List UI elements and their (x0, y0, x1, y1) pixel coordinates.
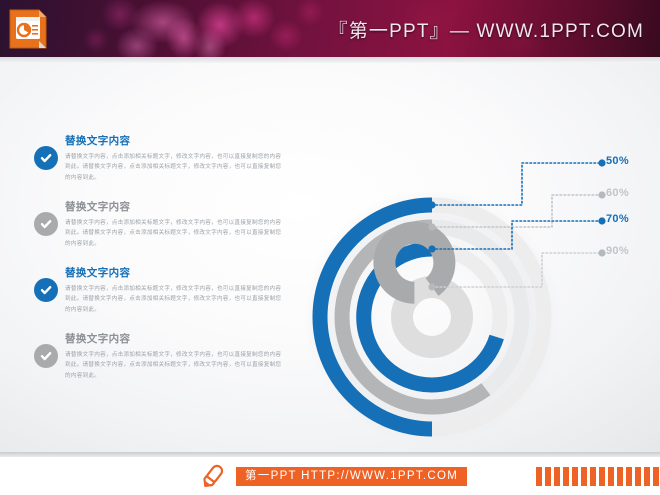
leader-dot-end-4 (598, 249, 605, 256)
list-item-title: 替换文字内容 (65, 265, 282, 280)
leader-dot-start-1 (428, 201, 435, 208)
powerpoint-icon (8, 8, 48, 50)
leader-dot-end-1 (598, 159, 605, 166)
slide-top-highlight (0, 57, 660, 63)
orange-stripe-pattern (536, 467, 660, 486)
check-circle-icon (34, 212, 58, 236)
leader-dot-start-2 (428, 223, 435, 230)
top-banner-title: 『第一PPT』— WWW.1PPT.COM (329, 16, 644, 43)
check-circle-icon (34, 344, 58, 368)
list-item[interactable]: 替换文字内容 请替换文字内容，点击添加相关标题文字，修改文字内容，也可以直接复制… (34, 199, 282, 251)
list-item-body: 请替换文字内容，点击添加相关标题文字，修改文字内容，也可以直接复制您的内容到此。… (65, 350, 282, 381)
leader-dot-start-4 (428, 283, 435, 290)
leader-dot-start-3 (428, 245, 435, 252)
chart-label-50: 50% (606, 155, 629, 167)
list-item-body: 请替换文字内容，点击添加相关标题文字，修改文字内容，也可以直接复制您的内容到此。… (65, 284, 282, 315)
list-item[interactable]: 替换文字内容 请替换文字内容，点击添加相关标题文字，修改文字内容，也可以直接复制… (34, 265, 282, 317)
list-item-title: 替换文字内容 (65, 199, 282, 214)
chart-label-70: 70% (606, 213, 629, 225)
text-block-list: 替换文字内容 请替换文字内容，点击添加相关标题文字，修改文字内容，也可以直接复制… (34, 133, 282, 397)
footer-url-label[interactable]: 第一PPT HTTP://WWW.1PPT.COM (236, 467, 467, 486)
leader-dot-end-2 (598, 191, 605, 198)
list-item-title: 替换文字内容 (65, 331, 282, 346)
chart-label-60: 60% (606, 187, 629, 199)
list-item[interactable]: 替换文字内容 请替换文字内容，点击添加相关标题文字，修改文字内容，也可以直接复制… (34, 331, 282, 383)
slide-canvas: 替换文字内容 请替换文字内容，点击添加相关标题文字，修改文字内容，也可以直接复制… (0, 57, 660, 452)
check-circle-icon (34, 278, 58, 302)
bottom-banner: 第一PPT HTTP://WWW.1PPT.COM (0, 457, 660, 495)
list-item-title: 替换文字内容 (65, 133, 282, 148)
list-item-body: 请替换文字内容，点击添加相关标题文字，修改文字内容，也可以直接复制您的内容到此。… (65, 152, 282, 183)
top-banner: 『第一PPT』— WWW.1PPT.COM (0, 0, 660, 57)
pencil-icon (200, 463, 226, 490)
leader-dot-end-3 (598, 217, 605, 224)
chart-label-90: 90% (606, 245, 629, 257)
check-circle-icon (34, 146, 58, 170)
list-item[interactable]: 替换文字内容 请替换文字内容，点击添加相关标题文字，修改文字内容，也可以直接复制… (34, 133, 282, 185)
radial-progress-chart: 50% 60% 70% 90% (290, 77, 660, 447)
list-item-body: 请替换文字内容，点击添加相关标题文字，修改文字内容，也可以直接复制您的内容到此。… (65, 218, 282, 249)
slide-stage: 『第一PPT』— WWW.1PPT.COM 替换文字内容 请替换文字内容，点击添… (0, 0, 660, 495)
